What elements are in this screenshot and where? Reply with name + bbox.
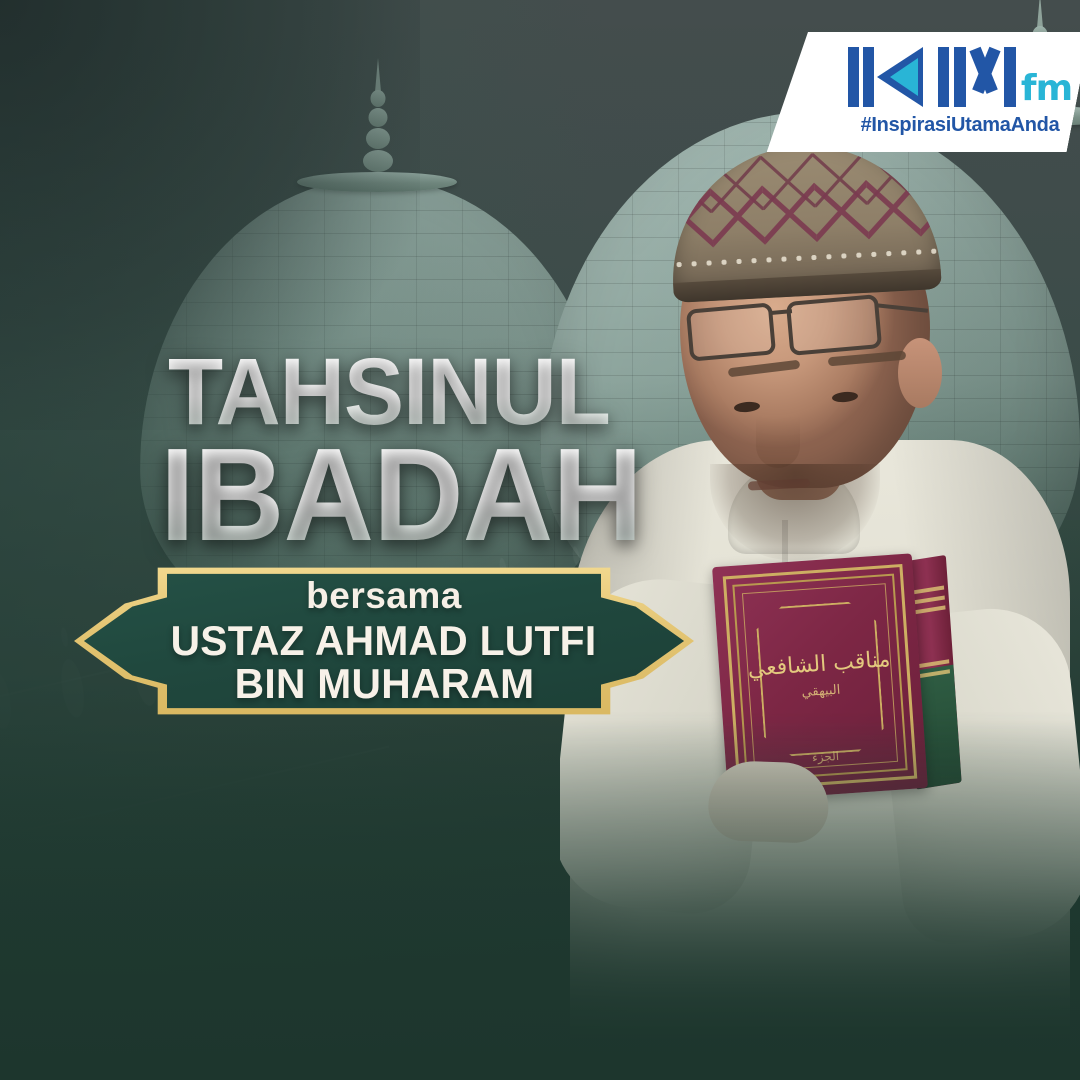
speaker-name-line2: BIN MUHARAM	[234, 663, 534, 706]
logo-letter-k-icon	[877, 47, 933, 107]
program-title: TAHSINUL IBADAH	[168, 352, 667, 551]
speaker-hand	[707, 760, 830, 844]
program-title-line2: IBADAH	[160, 438, 642, 552]
logo-m-stroke	[954, 47, 966, 107]
logo-m-stroke	[1004, 47, 1016, 107]
with-label: bersama	[306, 577, 462, 614]
ikim-wordmark: fm	[848, 47, 1072, 107]
speaker-name-plaque: bersama USTAZ AHMAD LUTFI BIN MUHARAM	[74, 563, 694, 719]
kufi-cap	[666, 139, 941, 303]
logo-suffix-fm: fm	[1021, 71, 1072, 107]
speaker-eye-left	[734, 401, 761, 413]
logo-letter-i	[848, 47, 874, 107]
speaker-ear	[898, 338, 942, 408]
logo-bar	[863, 47, 874, 107]
speaker-eye-right	[832, 391, 859, 403]
poster-canvas: مناقب الشافعي البيهقي الجزء	[0, 0, 1080, 1080]
speaker-nose	[756, 416, 800, 468]
logo-letter-i2	[938, 47, 949, 107]
islamic-book: مناقب الشافعي البيهقي الجزء	[712, 553, 928, 801]
cap-zigzag-lower-pattern	[666, 172, 941, 254]
speaker-eyebrow-left	[728, 360, 801, 378]
speaker-name-line1: USTAZ AHMAD LUTFI	[171, 620, 597, 663]
logo-k-inner-triangle	[890, 58, 918, 96]
eyeglasses-lens-left	[686, 302, 776, 361]
eyeglasses-lens-right	[786, 294, 882, 356]
ikim-logo[interactable]: fm #InspirasiUtamaAnda	[790, 32, 1080, 152]
speaker-eyebrow-right	[828, 351, 906, 367]
logo-bar	[848, 47, 859, 107]
plaque-text-group: bersama USTAZ AHMAD LUTFI BIN MUHARAM	[74, 563, 694, 719]
logo-tagline: #InspirasiUtamaAnda	[861, 114, 1060, 137]
logo-letter-m	[954, 47, 1016, 107]
